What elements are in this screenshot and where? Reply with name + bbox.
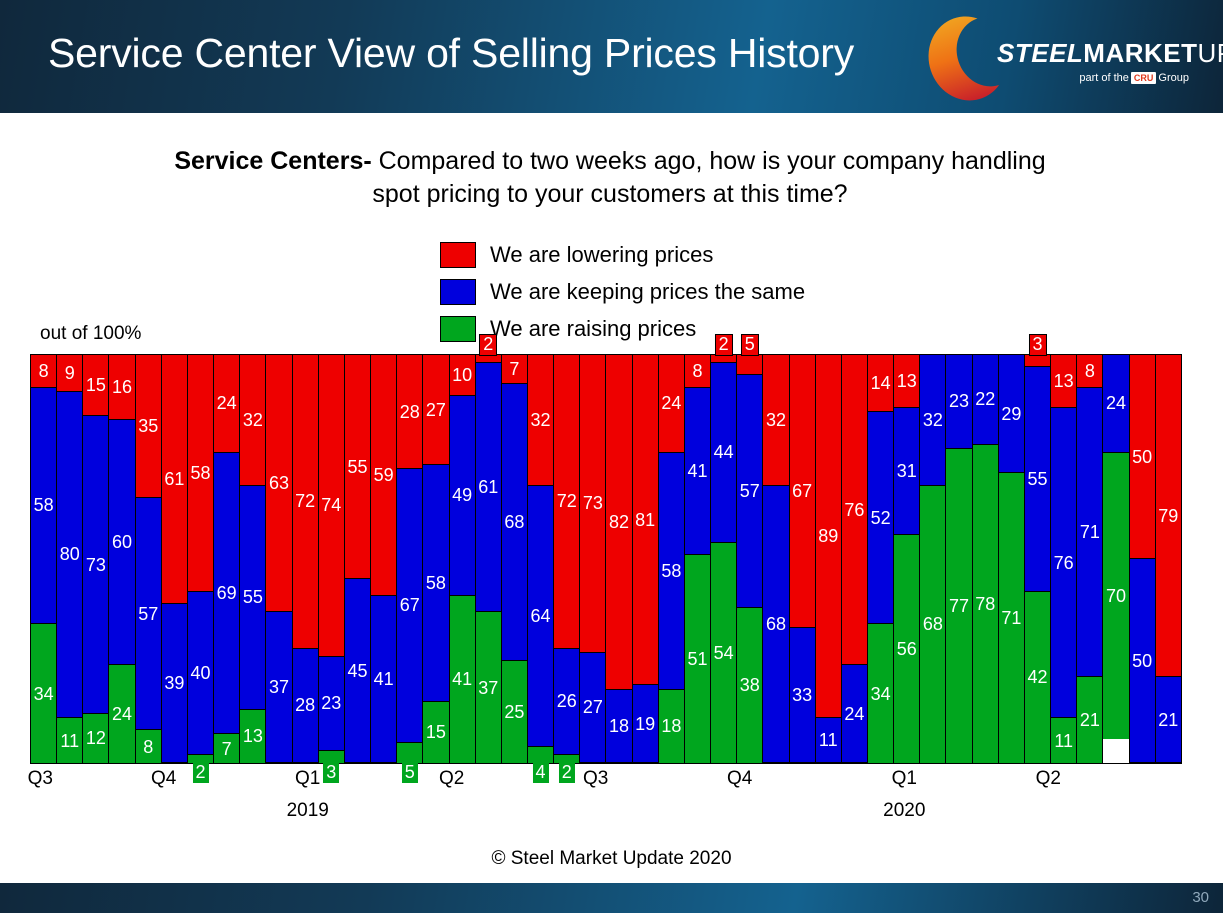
bar-segment-keeping: 41 — [685, 388, 710, 555]
slide-body: Service Centers- Compared to two weeks a… — [0, 113, 1223, 883]
chart-question-title: Service Centers- Compared to two weeks a… — [150, 145, 1070, 210]
bar-segment-value: 13 — [897, 372, 917, 390]
bar-segment-keeping: 45 — [345, 579, 370, 763]
bar-segment-lowering: 32 — [240, 355, 265, 486]
bar-segment-value: 13 — [1054, 372, 1074, 390]
bar-segment-value: 55 — [243, 588, 263, 606]
bar-column: 8218 — [605, 355, 631, 763]
bar-segment-value: 32 — [531, 411, 551, 429]
stacked-bar-chart-plot: 8583498011157312166024355786139584022469… — [30, 354, 1182, 764]
bar-segment-value: 38 — [740, 676, 760, 694]
bar-segment-raising: 24 — [109, 665, 134, 763]
bar-segment-value: 49 — [452, 486, 472, 504]
bar-segment-lowering: 73 — [580, 355, 605, 653]
bar-segment-keeping: 60 — [109, 420, 134, 665]
bar-segment-value: 19 — [635, 715, 655, 733]
slide-header-band: Service Center View of Selling Prices Hi… — [0, 0, 1223, 113]
bar-segment-value: 41 — [374, 670, 394, 688]
bar-segment-value: 40 — [191, 664, 211, 682]
bar-segment-keeping: 61 — [476, 363, 501, 612]
logo-group-text: Group — [1158, 72, 1189, 84]
bar-column: 72262 — [553, 355, 579, 763]
x-axis-quarter-labels: Q3Q4Q1Q2Q3Q4Q1Q2 — [30, 768, 1182, 798]
x-axis-tick-3: Q2 — [439, 768, 464, 790]
bar-segment-value: 73 — [86, 556, 106, 574]
bar-segment-lowering: 63 — [266, 355, 291, 612]
bar-segment-value: 89 — [818, 527, 838, 545]
bar-segment-lowering: 28 — [397, 355, 422, 469]
bar-segment-value: 14 — [871, 374, 891, 392]
bar-segment-value: 67 — [400, 596, 420, 614]
bar-segment-value: 26 — [557, 692, 577, 710]
bar-segment-keeping: 55 — [1025, 367, 1050, 591]
bar-segment-value: 16 — [112, 378, 132, 396]
bar-segment-value: 28 — [400, 403, 420, 421]
chart-legend: We are lowering prices We are keeping pr… — [440, 236, 805, 347]
bar-segment-value: 74 — [321, 496, 341, 514]
bar-segment-value: 34 — [871, 685, 891, 703]
bar-segment-value: 13 — [243, 727, 263, 745]
bar-column: 6733 — [789, 355, 815, 763]
bar-column: 35542 — [1024, 355, 1050, 763]
bar-segment-raising: 2 — [554, 755, 579, 763]
bar-segment-raising: 21 — [1077, 677, 1102, 763]
bar-column: 5545 — [344, 355, 370, 763]
cru-badge: CRU — [1131, 72, 1157, 84]
bar-segment-raising: 5 — [397, 743, 422, 763]
bar-segment-value: 58 — [426, 574, 446, 592]
slide-footer-band: 30 — [0, 883, 1223, 913]
bar-segment-value: 15 — [86, 376, 106, 394]
bar-column: 245818 — [658, 355, 684, 763]
bar-segment-value: 68 — [766, 615, 786, 633]
bar-segment-lowering: 8 — [1077, 355, 1102, 388]
bar-segment-keeping: 57 — [737, 375, 762, 608]
bar-segment-value: 50 — [1132, 448, 1152, 466]
bar-segment-value: 7 — [509, 360, 519, 378]
bar-segment-value: 73 — [583, 494, 603, 512]
bar-segment-keeping: 68 — [763, 486, 788, 763]
bar-segment-value: 24 — [844, 705, 864, 723]
legend-item-raising: We are raising prices — [440, 310, 805, 347]
bar-segment-value: 60 — [112, 533, 132, 551]
bar-segment-raising: 38 — [737, 608, 762, 763]
bar-segment-raising: 2 — [188, 755, 213, 763]
bar-segment-value: 71 — [1001, 609, 1021, 627]
page-number: 30 — [1192, 889, 1209, 906]
bar-segment-value: 64 — [531, 607, 551, 625]
bar-segment-raising: 12 — [83, 714, 108, 763]
bar-segment-lowering: 3 — [1025, 355, 1050, 367]
bar-segment-value: 42 — [1028, 668, 1048, 686]
logo-partofthe-text: part of the — [1079, 72, 1129, 84]
y-axis-note: out of 100% — [40, 323, 141, 345]
bar-column: 7327 — [579, 355, 605, 763]
bar-segment-value: 78 — [975, 595, 995, 613]
bar-segment-keeping: 26 — [554, 649, 579, 755]
bar-segment-value: 8 — [143, 738, 153, 756]
bar-column: 55738 — [736, 355, 762, 763]
x-axis-tick-7: Q2 — [1036, 768, 1061, 790]
bar-segment-keeping: 28 — [293, 649, 318, 763]
bar-segment-value: 67 — [792, 482, 812, 500]
bar-column: 325513 — [239, 355, 265, 763]
bar-segment-value: 81 — [635, 511, 655, 529]
bar-segment-lowering: 9 — [57, 355, 82, 392]
bar-segment-raising: 18 — [659, 690, 684, 763]
bar-segment-raising: 13 — [240, 710, 265, 763]
bar-segment-value: 68 — [504, 513, 524, 531]
bar-segment-value: 45 — [347, 662, 367, 680]
bar-column: 137611 — [1050, 355, 1076, 763]
bar-column: 133156 — [893, 355, 919, 763]
bar-column: 7228 — [292, 355, 318, 763]
bar-segment-raising: 42 — [1025, 592, 1050, 763]
bar-segment-lowering: 24 — [214, 355, 239, 453]
bar-segment-raising: 15 — [423, 702, 448, 763]
bar-segment-raising: 70 — [1103, 453, 1128, 739]
bar-column: 32644 — [527, 355, 553, 763]
bar-segment-keeping: 57 — [136, 498, 161, 731]
bar-segment-lowering: 10 — [450, 355, 475, 396]
bar-segment-value: 3 — [1029, 334, 1047, 356]
bar-segment-value: 41 — [452, 670, 472, 688]
bar-segment-keeping: 64 — [528, 486, 553, 747]
logo-wordmark: STEELMARKETUPDATE — [997, 38, 1223, 69]
bar-segment-value: 32 — [766, 411, 786, 429]
bar-segment-value: 76 — [844, 501, 864, 519]
bar-column: 28675 — [396, 355, 422, 763]
bar-segment-lowering: 89 — [816, 355, 841, 718]
bar-segment-value: 70 — [1106, 587, 1126, 605]
bar-segment-value: 68 — [923, 615, 943, 633]
bar-column: 2377 — [945, 355, 971, 763]
bar-column: 7921 — [1155, 355, 1181, 763]
bar-segment-raising: 11 — [57, 718, 82, 763]
bar-segment-lowering: 58 — [188, 355, 213, 592]
bar-segment-value: 37 — [269, 678, 289, 696]
bar-segment-raising: 34 — [868, 624, 893, 763]
bar-segment-keeping: 73 — [83, 416, 108, 714]
legend-label-keeping: We are keeping prices the same — [490, 279, 805, 305]
bar-segment-raising: 41 — [450, 596, 475, 763]
bar-segment-value: 27 — [426, 401, 446, 419]
bar-column: 3268 — [762, 355, 788, 763]
bar-segment-keeping: 33 — [790, 628, 815, 763]
bar-segment-value: 55 — [347, 458, 367, 476]
legend-item-lowering: We are lowering prices — [440, 236, 805, 273]
bar-segment-value: 39 — [164, 674, 184, 692]
bar-segment-keeping: 22 — [973, 355, 998, 445]
bar-segment-value: 12 — [86, 729, 106, 747]
bar-segment-value: 9 — [65, 364, 75, 382]
bar-segment-lowering: 8 — [685, 355, 710, 388]
bar-segment-raising: 71 — [999, 473, 1024, 763]
legend-swatch-green — [440, 316, 476, 342]
bar-segment-raising: 56 — [894, 535, 919, 763]
chart-title-bold: Service Centers- — [174, 147, 371, 175]
bar-segment-raising: 4 — [528, 747, 553, 763]
bar-segment-keeping: 44 — [711, 363, 736, 543]
bar-segment-value: 27 — [583, 698, 603, 716]
bar-segment-keeping: 24 — [842, 665, 867, 763]
bar-segment-value: 10 — [452, 366, 472, 384]
bar-segment-keeping: 39 — [162, 604, 187, 763]
bar-segment-raising: 37 — [476, 612, 501, 763]
bar-segment-lowering: 15 — [83, 355, 108, 416]
logo-market-text: MARKET — [1083, 38, 1197, 68]
bar-segment-lowering: 82 — [606, 355, 631, 690]
bar-segment-lowering: 13 — [894, 355, 919, 408]
bar-segment-keeping: 29 — [999, 355, 1024, 473]
bar-segment-value: 55 — [1028, 470, 1048, 488]
bar-segment-keeping: 37 — [266, 612, 291, 763]
bar-column: 275815 — [422, 355, 448, 763]
legend-swatch-red — [440, 242, 476, 268]
bar-segment-value: 79 — [1158, 507, 1178, 525]
bar-segment-keeping: 11 — [816, 718, 841, 763]
bar-segment-value: 56 — [897, 640, 917, 658]
bar-segment-keeping: 71 — [1077, 388, 1102, 678]
bar-segment-value: 11 — [819, 731, 838, 749]
bar-segment-value: 32 — [243, 411, 263, 429]
bar-segment-keeping: 49 — [450, 396, 475, 596]
x-axis-year-labels: 20192020 — [30, 800, 1182, 830]
bar-segment-lowering: 16 — [109, 355, 134, 420]
bar-segment-lowering: 32 — [528, 355, 553, 486]
bar-segment-value: 63 — [269, 474, 289, 492]
bar-segment-lowering: 14 — [868, 355, 893, 412]
bar-segment-value: 32 — [923, 411, 943, 429]
bar-segment-keeping: 23 — [946, 355, 971, 449]
bar-segment-raising: 8 — [136, 730, 161, 763]
bar-segment-value: 58 — [191, 464, 211, 482]
bar-segment-value: 25 — [504, 703, 524, 721]
bar-segment-lowering: 67 — [790, 355, 815, 628]
legend-item-keeping: We are keeping prices the same — [440, 273, 805, 310]
bar-segment-keeping: 67 — [397, 469, 422, 742]
bar-segment-raising: 11 — [1051, 718, 1076, 763]
bar-segment-keeping: 58 — [659, 453, 684, 690]
bar-segment-raising: 68 — [920, 486, 945, 763]
bar-segment-value: 7 — [222, 740, 232, 758]
bar-segment-value: 34 — [34, 685, 54, 703]
bar-segment-value: 72 — [295, 492, 315, 510]
bar-segment-value: 11 — [60, 732, 79, 750]
bar-segment-value: 35 — [138, 417, 158, 435]
bar-segment-keeping: 31 — [894, 408, 919, 534]
bar-segment-raising: 34 — [31, 624, 56, 763]
legend-label-raising: We are raising prices — [490, 316, 696, 342]
bar-segment-keeping: 18 — [606, 690, 631, 763]
bar-column: 87121 — [1076, 355, 1102, 763]
bar-segment-value: 28 — [295, 696, 315, 714]
bar-segment-value: 57 — [740, 482, 760, 500]
bar-column: 8911 — [815, 355, 841, 763]
bar-segment-value: 8 — [692, 362, 702, 380]
bar-segment-raising: 54 — [711, 543, 736, 763]
bar-segment-value: 8 — [1085, 362, 1095, 380]
bar-segment-value: 44 — [714, 443, 734, 461]
logo-steel-text: STEEL — [997, 38, 1083, 68]
bar-segment-value: 71 — [1080, 523, 1100, 541]
bar-segment-keeping: 40 — [188, 592, 213, 755]
x-axis-year-2019: 2019 — [287, 800, 329, 822]
bar-segment-keeping: 55 — [240, 486, 265, 710]
bar-segment-keeping: 76 — [1051, 408, 1076, 718]
bar-segment-keeping: 50 — [1130, 559, 1155, 763]
bar-segment-value: 52 — [871, 509, 891, 527]
bar-segment-value: 51 — [687, 650, 707, 668]
x-axis-tick-1: Q4 — [151, 768, 176, 790]
bar-segment-keeping: 58 — [423, 465, 448, 702]
bar-segment-value: 33 — [792, 686, 812, 704]
bar-segment-value: 61 — [478, 478, 498, 496]
bar-segment-lowering: 24 — [659, 355, 684, 453]
bar-segment-value: 24 — [661, 394, 681, 412]
bar-segment-lowering: 81 — [633, 355, 658, 685]
bar-segment-lowering: 35 — [136, 355, 161, 498]
bar-segment-value: 37 — [478, 679, 498, 697]
bar-column: 3268 — [919, 355, 945, 763]
bar-column: 166024 — [108, 355, 134, 763]
slide-header-title: Service Center View of Selling Prices Hi… — [48, 30, 854, 77]
bar-segment-value: 11 — [1054, 732, 1073, 750]
bar-column: 84151 — [684, 355, 710, 763]
bar-segment-value: 57 — [138, 605, 158, 623]
bar-segment-lowering: 8 — [31, 355, 56, 388]
bar-segment-value: 24 — [1106, 394, 1126, 412]
bar-segment-value: 41 — [687, 462, 707, 480]
bar-segment-value: 24 — [112, 705, 132, 723]
bar-segment-value: 22 — [975, 390, 995, 408]
bar-column: 2470 — [1102, 355, 1128, 763]
bar-column: 76825 — [501, 355, 527, 763]
bar-segment-value: 31 — [897, 462, 917, 480]
bar-segment-lowering: 72 — [293, 355, 318, 649]
legend-label-lowering: We are lowering prices — [490, 242, 713, 268]
bar-segment-value: 23 — [321, 694, 341, 712]
bar-segment-lowering: 79 — [1156, 355, 1181, 677]
bar-segment-keeping: 58 — [31, 388, 56, 625]
legend-swatch-blue — [440, 279, 476, 305]
bar-segment-lowering: 55 — [345, 355, 370, 579]
bar-segment-value: 21 — [1080, 711, 1100, 729]
bar-segment-keeping: 19 — [633, 685, 658, 763]
bar-segment-value: 8 — [39, 362, 49, 380]
bar-segment-value: 69 — [217, 584, 237, 602]
x-axis-tick-0: Q3 — [28, 768, 53, 790]
bar-segment-keeping: 32 — [920, 355, 945, 486]
bar-segment-value: 54 — [714, 644, 734, 662]
bar-segment-raising: 3 — [319, 751, 344, 763]
bar-segment-value: 18 — [609, 717, 629, 735]
bar-segment-lowering: 72 — [554, 355, 579, 649]
bar-segment-lowering: 50 — [1130, 355, 1155, 559]
bar-column: 24697 — [213, 355, 239, 763]
bar-segment-value: 82 — [609, 513, 629, 531]
bar-column: 5050 — [1129, 355, 1155, 763]
bar-segment-value: 58 — [34, 496, 54, 514]
bar-segment-raising: 7 — [214, 734, 239, 763]
x-axis-tick-5: Q4 — [727, 768, 752, 790]
bar-column: 98011 — [56, 355, 82, 763]
bar-segment-value: 80 — [60, 545, 80, 563]
bar-segment-value: 59 — [374, 466, 394, 484]
bar-column: 74233 — [318, 355, 344, 763]
bar-segment-value: 72 — [557, 492, 577, 510]
copyright-notice: © Steel Market Update 2020 — [0, 848, 1223, 870]
bar-segment-lowering: 76 — [842, 355, 867, 665]
bar-column: 145234 — [867, 355, 893, 763]
bar-column: 104941 — [449, 355, 475, 763]
bar-column: 2278 — [972, 355, 998, 763]
bar-segment-lowering: 13 — [1051, 355, 1076, 408]
bar-column: 157312 — [82, 355, 108, 763]
x-axis-tick-2: Q1 — [295, 768, 320, 790]
bar-column: 8119 — [632, 355, 658, 763]
bar-segment-keeping: 23 — [319, 657, 344, 751]
bar-column: 6337 — [265, 355, 291, 763]
bar-column: 7624 — [841, 355, 867, 763]
bar-segment-value: 24 — [217, 394, 237, 412]
bar-segment-value: 50 — [1132, 652, 1152, 670]
bar-segment-lowering: 61 — [162, 355, 187, 604]
bar-column: 6139 — [161, 355, 187, 763]
bar-segment-lowering: 5 — [737, 355, 762, 375]
bar-segment-value: 77 — [949, 597, 969, 615]
bar-segment-value: 23 — [949, 392, 969, 410]
bar-segment-raising: 25 — [502, 661, 527, 763]
bar-segment-lowering: 59 — [371, 355, 396, 596]
bar-segment-keeping: 69 — [214, 453, 239, 735]
bar-segment-lowering: 32 — [763, 355, 788, 486]
bar-segment-value: 21 — [1158, 711, 1178, 729]
bar-column: 24454 — [710, 355, 736, 763]
bar-segment-keeping: 68 — [502, 384, 527, 661]
bar-segment-value: 29 — [1001, 405, 1021, 423]
bar-segment-value: 15 — [426, 723, 446, 741]
bar-column: 2971 — [998, 355, 1024, 763]
logo-update-text: UPDATE — [1198, 38, 1223, 68]
bar-column: 5941 — [370, 355, 396, 763]
chart-title-rest: Compared to two weeks ago, how is your c… — [372, 147, 1046, 208]
steel-market-update-logo: STEELMARKETUPDATE part of theCRUGroup — [921, 10, 1191, 106]
bar-segment-keeping: 52 — [868, 412, 893, 624]
bar-segment-lowering: 2 — [476, 355, 501, 363]
bar-column: 85834 — [31, 355, 56, 763]
bar-segment-value: 18 — [661, 717, 681, 735]
bar-column: 35578 — [135, 355, 161, 763]
bar-segment-value: 76 — [1054, 554, 1074, 572]
bar-segment-raising: 51 — [685, 555, 710, 763]
bar-segment-value: 61 — [164, 470, 184, 488]
bar-segment-lowering: 2 — [711, 355, 736, 363]
bar-segment-keeping: 21 — [1156, 677, 1181, 763]
bar-segment-keeping: 80 — [57, 392, 82, 718]
bar-column: 26137 — [475, 355, 501, 763]
bar-column: 58402 — [187, 355, 213, 763]
logo-subline: part of theCRUGroup — [1079, 72, 1189, 84]
bar-segment-value: 58 — [661, 562, 681, 580]
x-axis-tick-4: Q3 — [583, 768, 608, 790]
bar-segment-keeping: 41 — [371, 596, 396, 763]
bar-segment-raising: 77 — [946, 449, 971, 763]
x-axis-tick-6: Q1 — [892, 768, 917, 790]
bar-segment-lowering: 7 — [502, 355, 527, 384]
bar-segment-lowering: 74 — [319, 355, 344, 657]
bar-segment-keeping: 27 — [580, 653, 605, 763]
